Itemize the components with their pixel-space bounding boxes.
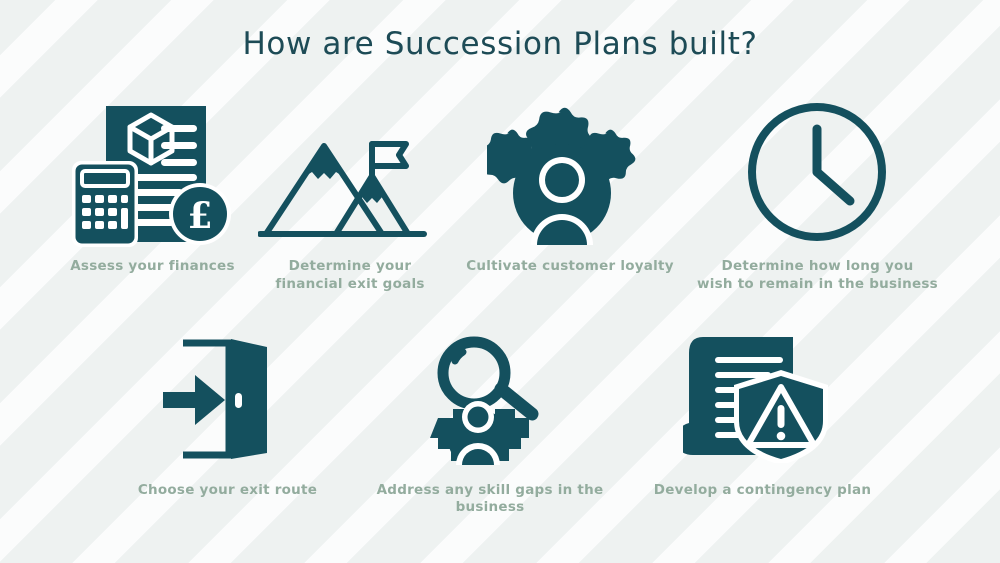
icon-customer-loyalty xyxy=(487,100,637,245)
icon-assess-finances: £ xyxy=(72,100,232,250)
icon-contingency-plan xyxy=(683,333,833,463)
label-contingency-plan: Develop a contingency plan xyxy=(650,482,875,499)
icon-financial-exit-goals xyxy=(258,130,438,250)
person-stars-icon xyxy=(487,100,637,245)
page-title: How are Succession Plans built? xyxy=(0,26,1000,62)
label-exit-route: Choose your exit route xyxy=(125,482,330,499)
label-skill-gaps: Address any skill gaps in the business xyxy=(345,482,635,516)
slide-canvas: How are Succession Plans built? xyxy=(0,0,1000,563)
label-line-1: Determine your xyxy=(255,258,445,276)
exit-door-arrow-icon xyxy=(163,337,293,462)
label-financial-exit-goals: Determine your financial exit goals xyxy=(255,258,445,293)
label-line-1: Determine how long you xyxy=(690,258,945,276)
icon-remain-in-business xyxy=(745,100,890,245)
label-customer-loyalty: Cultivate customer loyalty xyxy=(450,258,690,275)
label-assess-finances: Assess your finances xyxy=(40,258,265,275)
magnifier-gear-person-icon xyxy=(418,335,553,465)
document-shield-warning-icon xyxy=(683,333,833,463)
icon-exit-route xyxy=(163,337,293,462)
pound-symbol: £ xyxy=(187,195,212,237)
icon-skill-gaps xyxy=(418,335,553,465)
mountains-flag-icon xyxy=(258,130,438,250)
label-line-2: wish to remain in the business xyxy=(690,276,945,294)
label-remain-in-business: Determine how long you wish to remain in… xyxy=(690,258,945,293)
label-line-2: financial exit goals xyxy=(255,276,445,294)
clock-icon xyxy=(745,100,890,245)
finances-document-calculator-pound-icon: £ xyxy=(72,100,232,250)
